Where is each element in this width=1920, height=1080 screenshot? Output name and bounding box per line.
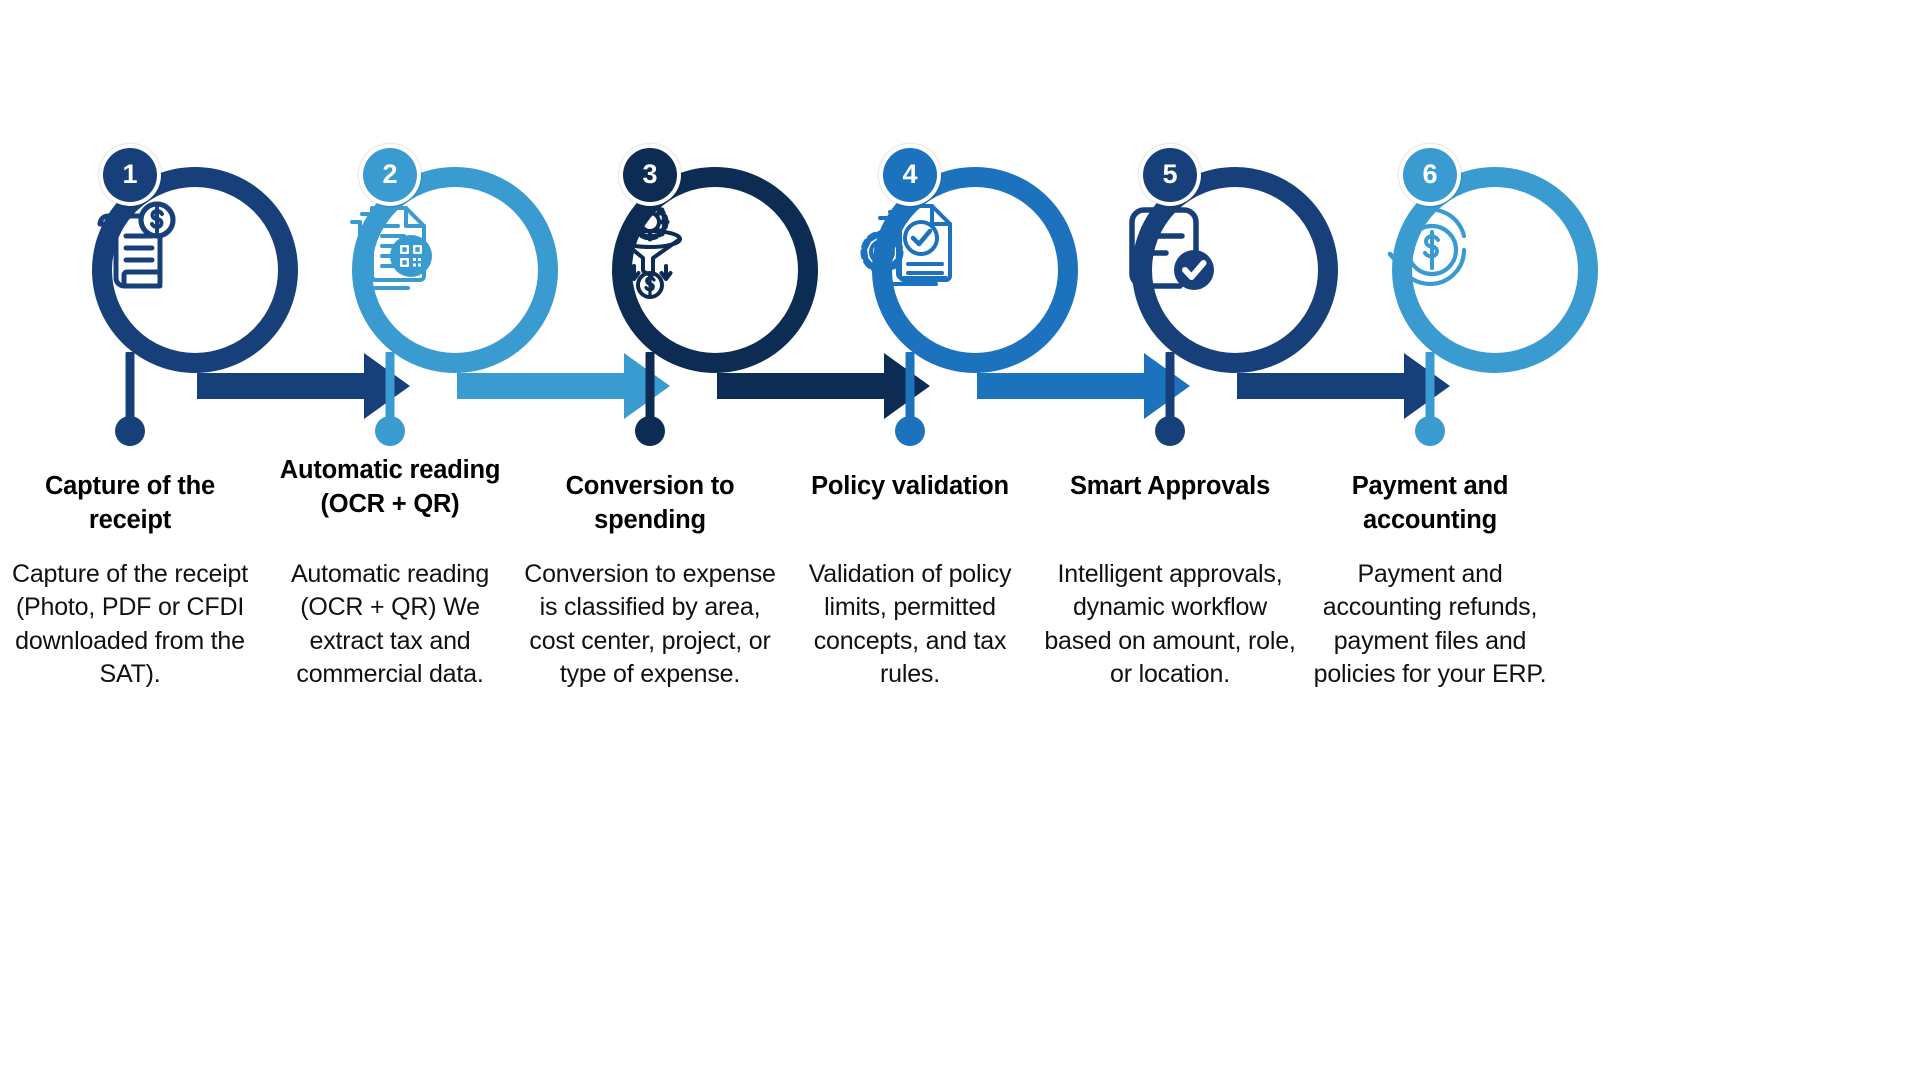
step-number-label: 1 bbox=[103, 148, 157, 202]
step-title-6: Payment and accounting bbox=[1305, 470, 1555, 538]
step-title-1: Capture of the receipt bbox=[5, 470, 255, 538]
process-step-4: 4Policy validationValidation of policy l… bbox=[780, 0, 1040, 1080]
step-number-label: 4 bbox=[883, 148, 937, 202]
step-description-2: Automatic reading (OCR + QR) We extract … bbox=[264, 558, 516, 691]
connector-dot bbox=[895, 416, 925, 446]
step-number-badge-6: 6 bbox=[1399, 144, 1461, 206]
step-description-4: Validation of policy limits, permitted c… bbox=[784, 558, 1036, 691]
step-number-label: 5 bbox=[1143, 148, 1197, 202]
step-number-badge-5: 5 bbox=[1139, 144, 1201, 206]
step-number-badge-2: 2 bbox=[359, 144, 421, 206]
step-description-6: Payment and accounting refunds, payment … bbox=[1304, 558, 1556, 691]
connector-stem bbox=[126, 352, 135, 424]
step-title-4: Policy validation bbox=[785, 470, 1035, 504]
connector-stem bbox=[906, 352, 915, 424]
connector-dot bbox=[1155, 416, 1185, 446]
process-step-5: 5Smart ApprovalsIntelligent approvals, d… bbox=[1040, 0, 1300, 1080]
process-step-3: 3Conversion to spendingConversion to exp… bbox=[520, 0, 780, 1080]
step-number-badge-1: 1 bbox=[99, 144, 161, 206]
document-check-gear-icon bbox=[858, 196, 962, 300]
connector-dot bbox=[115, 416, 145, 446]
receipt-dollar-icon bbox=[78, 196, 182, 300]
process-flow-diagram: 1Capture of the receiptCapture of the re… bbox=[0, 0, 1920, 1080]
step-number-badge-3: 3 bbox=[619, 144, 681, 206]
step-number-label: 2 bbox=[363, 148, 417, 202]
connector-stem bbox=[646, 352, 655, 424]
connector-stem bbox=[1166, 352, 1175, 424]
step-title-5: Smart Approvals bbox=[1045, 470, 1295, 504]
process-step-1: 1Capture of the receiptCapture of the re… bbox=[0, 0, 260, 1080]
step-number-badge-4: 4 bbox=[879, 144, 941, 206]
connector-stem bbox=[1426, 352, 1435, 424]
connector-dot bbox=[635, 416, 665, 446]
step-description-5: Intelligent approvals, dynamic workflow … bbox=[1044, 558, 1296, 691]
step-number-label: 6 bbox=[1403, 148, 1457, 202]
step-title-2: Automatic reading(OCR + QR) bbox=[265, 454, 515, 522]
connector-stem bbox=[386, 352, 395, 424]
steps-container: 1Capture of the receiptCapture of the re… bbox=[0, 0, 1920, 1080]
step-title-3: Conversion to spending bbox=[525, 470, 775, 538]
step-number-label: 3 bbox=[623, 148, 677, 202]
documents-qr-icon bbox=[338, 196, 442, 300]
connector-dot bbox=[375, 416, 405, 446]
step-description-3: Conversion to expense is classified by a… bbox=[524, 558, 776, 691]
dollar-refresh-icon bbox=[1378, 196, 1482, 300]
process-step-6: 6Payment and accountingPayment and accou… bbox=[1300, 0, 1560, 1080]
document-approved-badge-icon bbox=[1118, 196, 1222, 300]
process-step-2: 2Automatic reading(OCR + QR)Automatic re… bbox=[260, 0, 520, 1080]
connector-dot bbox=[1415, 416, 1445, 446]
funnel-gear-dollar-icon bbox=[598, 196, 702, 300]
step-description-1: Capture of the receipt (Photo, PDF or CF… bbox=[4, 558, 256, 691]
